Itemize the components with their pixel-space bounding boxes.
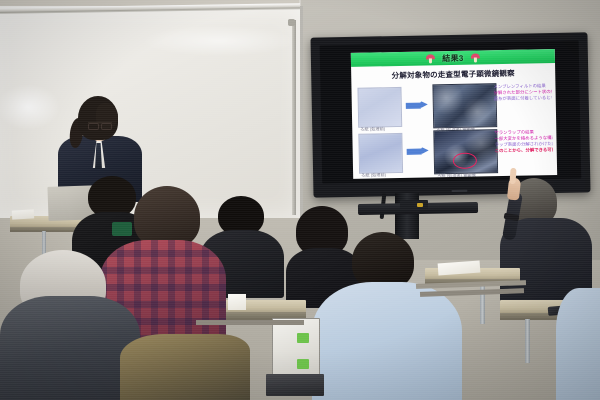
desk-paper-left	[12, 209, 34, 219]
arrow-icon-1	[406, 100, 428, 109]
sample-image-before-1	[357, 87, 402, 128]
slide-header-band: 結果3	[351, 49, 555, 67]
monitor-screen: 結果3 分解対象物の走査型電子顕微鏡観察 ろ紙 (処理前) ろ紙 (処理後) 電…	[320, 41, 582, 184]
audience-laptop-base[interactable]	[266, 374, 324, 396]
mushroom-icon-left	[426, 54, 435, 63]
av-device-led	[417, 203, 423, 207]
caption-before-2: ろ紙 (処理前)	[361, 172, 386, 178]
red-ellipse-annotation	[453, 153, 477, 169]
presentation-monitor[interactable]: 結果3 分解対象物の走査型電子顕微鏡観察 ろ紙 (処理前) ろ紙 (処理後) 電…	[310, 32, 590, 197]
slide-text-line: このことから、分解できる可能性が確認された	[495, 147, 553, 154]
av-device-box	[400, 200, 428, 209]
seminar-room-photo: 結果3 分解対象物の走査型電子顕微鏡観察 ろ紙 (処理前) ろ紙 (処理後) 電…	[0, 0, 600, 400]
questioner-pointing-finger	[509, 168, 516, 184]
whiteboard-right-edge	[292, 20, 296, 215]
audience-laptop-lid[interactable]	[272, 318, 320, 378]
whiteboard-glare-top	[144, 26, 294, 56]
presentation-slide: 結果3 分解対象物の走査型電子顕微鏡観察 ろ紙 (処理前) ろ紙 (処理後) 電…	[351, 49, 557, 179]
whiteboard	[0, 6, 303, 218]
caption-after-2: ろ紙 (処理後) 電顕像	[437, 173, 476, 179]
sem-image-after-1	[432, 83, 497, 128]
arrow-icon-2	[407, 146, 429, 155]
desk-far-right-leg	[525, 319, 530, 363]
laptop-sticker-bottom	[297, 359, 309, 369]
laptop-sticker-top	[297, 333, 309, 343]
sem-image-after-2	[433, 129, 498, 174]
mushroom-icon-right	[470, 53, 479, 62]
whiteboard-corner-bracket	[288, 19, 295, 26]
slide-header-title: 結果3	[442, 52, 464, 63]
whiteboard-glare	[0, 84, 60, 130]
slide-text-block-2: サランラップの結果 一部大変かを絡めるような構造を作っていた ラップ表面の分解さ…	[494, 129, 552, 154]
slide-title: 分解対象物の走査型電子顕微鏡観察	[351, 67, 555, 82]
slide-text-line: 菌糸が表面に付着していると考えられる	[494, 95, 552, 102]
sample-image-before-2	[358, 133, 403, 174]
slide-text-block-1: メンブレンフィルトの結果 分解された部分にシート状の網状構造が見られた 菌糸が表…	[493, 83, 551, 102]
desk-shelf-rail-3	[196, 320, 304, 325]
monitor-indicator-led	[451, 190, 467, 192]
lanyard	[112, 222, 132, 236]
presenter-glasses	[88, 122, 112, 129]
desk-cup-paper	[228, 294, 246, 310]
